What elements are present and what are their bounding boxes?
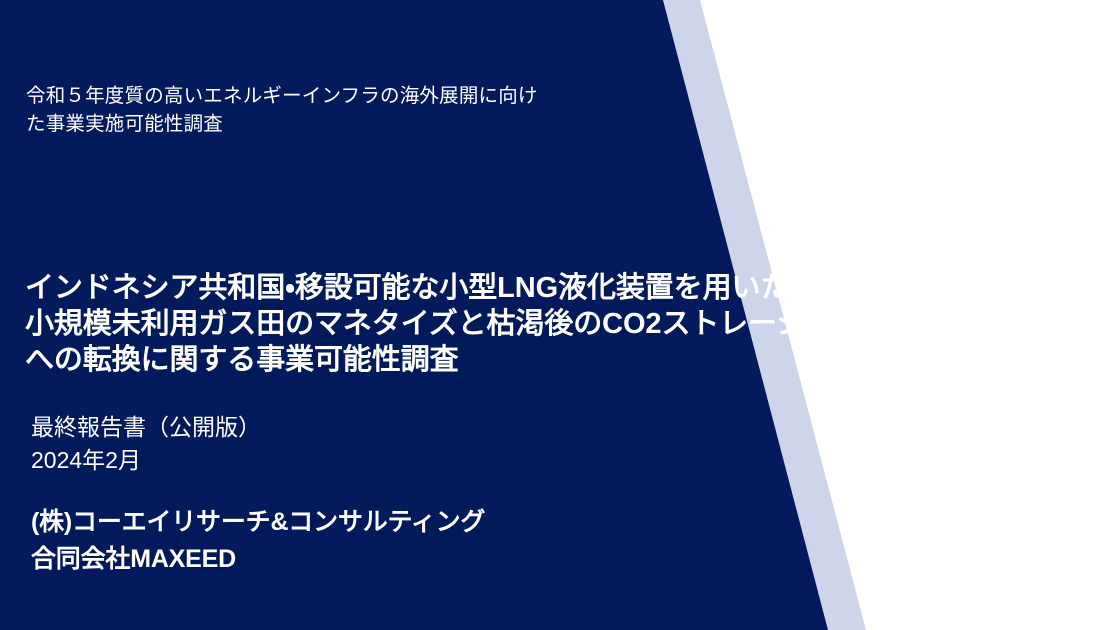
- program-header: 令和５年度質の高いエネルギーインフラの海外展開に向け た事業実施可能性調査: [26, 82, 538, 138]
- slide-content: 令和５年度質の高いエネルギーインフラの海外展開に向け た事業実施可能性調査 イン…: [0, 0, 1119, 630]
- report-meta: 最終報告書（公開版） 2024年2月: [31, 411, 261, 477]
- organization-names: (株)コーエイリサーチ&コンサルティング 合同会社MAXEED: [31, 504, 485, 578]
- page-title: インドネシア共和国・移設可能な小型LNG液化装置を用いた 小規模未利用ガス田のマ…: [25, 270, 805, 378]
- title-slide: 令和５年度質の高いエネルギーインフラの海外展開に向け た事業実施可能性調査 イン…: [0, 0, 1119, 630]
